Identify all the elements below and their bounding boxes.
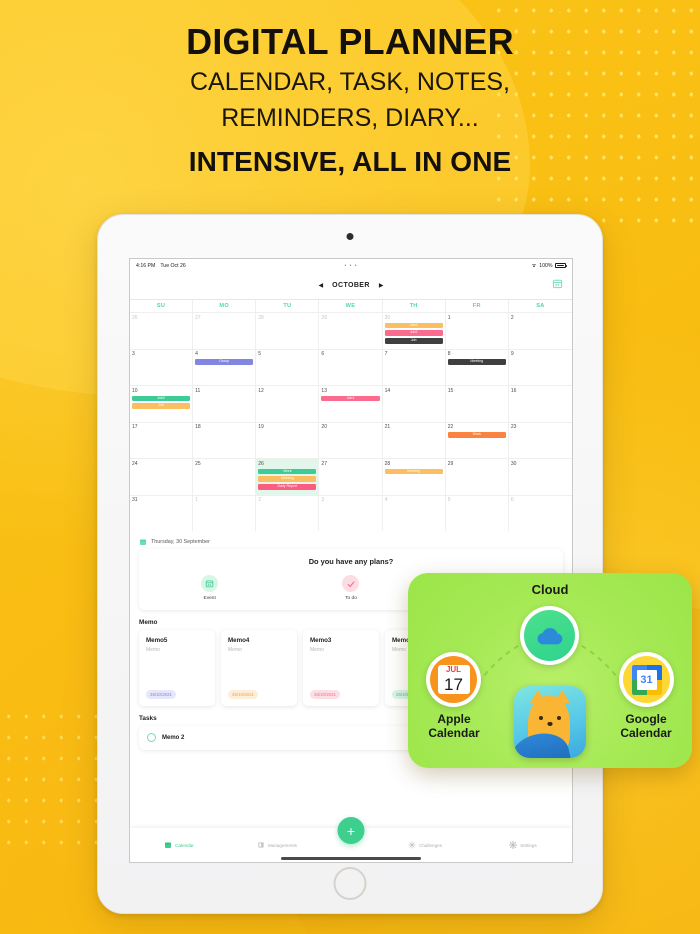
day-number: 3 — [321, 498, 379, 503]
apple-calendar-node[interactable]: JUL 17 — [426, 652, 481, 707]
plan-action-to-do[interactable]: To do — [280, 575, 421, 601]
calendar-day-cell[interactable]: 16 — [509, 385, 572, 422]
day-number: 2 — [258, 498, 316, 503]
tab-label: Challenges — [419, 843, 442, 848]
calendar-day-cell[interactable]: 14 — [383, 385, 446, 422]
day-number: 27 — [195, 316, 253, 321]
status-bar: 4:16 PM Tue Oct 26 • • • 100% — [130, 259, 572, 272]
calendar-event[interactable]: Daily Report — [258, 484, 316, 490]
day-number: 7 — [385, 352, 443, 357]
cat-eye-left — [539, 716, 543, 720]
google-calendar-node[interactable]: 31 — [619, 652, 674, 707]
day-number: 26 — [258, 462, 316, 467]
calendar-day-cell[interactable]: 29 — [446, 458, 509, 495]
weekday-sa: SA — [509, 300, 572, 312]
cat-app-icon[interactable] — [514, 686, 586, 758]
day-number: 18 — [195, 425, 253, 430]
tablet-device: 4:16 PM Tue Oct 26 • • • 100% ◀ OCTOBER … — [97, 214, 603, 914]
calendar-event[interactable]: Group — [195, 359, 253, 365]
month-label: OCTOBER — [332, 282, 370, 289]
day-number: 20 — [321, 425, 379, 430]
calendar-event[interactable]: Work — [448, 432, 506, 438]
memo-subtitle: Memo — [310, 647, 372, 653]
day-number: 15 — [448, 389, 506, 394]
day-number: 21 — [385, 425, 443, 430]
challenge-icon — [408, 841, 416, 849]
day-number: 31 — [132, 498, 190, 503]
calendar-day-cell[interactable]: 5 — [446, 495, 509, 532]
plan-action-label: To do — [345, 596, 357, 601]
calendar-day-cell[interactable]: 21 — [383, 422, 446, 459]
apple-label-line1: Apple — [412, 713, 496, 727]
calendar-day-cell[interactable]: 27 — [193, 312, 256, 349]
calendar-day-cell[interactable]: 4Group — [193, 349, 256, 386]
cat-eye-right — [557, 716, 561, 720]
day-number: 28 — [385, 462, 443, 467]
calendar: SUMOTUWETHFRSA 2627282930Job3Job2Job1234… — [130, 299, 572, 531]
calendar-day-cell[interactable]: 28Meeting — [383, 458, 446, 495]
tab-managements[interactable]: Managements — [228, 841, 326, 849]
calendar-day-cell[interactable]: 28 — [256, 312, 319, 349]
calendar-day-cell[interactable]: 3 — [319, 495, 382, 532]
google-calendar-label: Google Calendar — [604, 713, 688, 741]
calendar-day-cell[interactable]: 26WorkMeetingDaily Report — [256, 458, 319, 495]
calendar-day-cell[interactable]: 31 — [130, 495, 193, 532]
calendar-day-cell[interactable]: 1 — [446, 312, 509, 349]
apple-label-line2: Calendar — [412, 727, 496, 741]
calendar-view-icon[interactable] — [552, 278, 563, 289]
battery-icon — [555, 263, 566, 268]
bottom-tab-bar: Calendar Managements Challenges — [130, 828, 572, 862]
calendar-day-cell[interactable]: 8Meeting — [446, 349, 509, 386]
calendar-icon — [201, 575, 218, 592]
day-number: 5 — [448, 498, 506, 503]
memo-date-pill: 26/10/2021 — [228, 690, 258, 699]
memo-title: Memo5 — [146, 637, 208, 644]
calendar-day-cell[interactable]: 30 — [509, 458, 572, 495]
weekday-we: WE — [319, 300, 382, 312]
calendar-day-cell[interactable]: 29 — [319, 312, 382, 349]
calendar-grid: 2627282930Job3Job2Job1234Group5678Meetin… — [130, 312, 572, 531]
day-number: 17 — [132, 425, 190, 430]
tab-label: Managements — [268, 843, 297, 848]
check-icon — [342, 575, 359, 592]
calendar-day-cell[interactable]: 24 — [130, 458, 193, 495]
day-number: 6 — [321, 352, 379, 357]
day-number: 6 — [511, 498, 570, 503]
memo-date-pill: 26/10/2021 — [146, 690, 176, 699]
plan-action-label: Event — [204, 596, 216, 601]
day-number: 12 — [258, 389, 316, 394]
home-button[interactable] — [334, 867, 367, 900]
promo-title: DIGITAL PLANNER — [0, 22, 700, 62]
memo-card[interactable]: Memo5Memo26/10/2021 — [139, 630, 215, 706]
calendar-day-cell[interactable]: 20 — [319, 422, 382, 459]
calendar-day-cell[interactable]: 25 — [193, 458, 256, 495]
day-number: 23 — [511, 425, 570, 430]
battery-percent: 100% — [539, 263, 552, 269]
memo-card[interactable]: Memo4Memo26/10/2021 — [221, 630, 297, 706]
calendar-day-cell[interactable]: 22Work — [446, 422, 509, 459]
home-indicator — [281, 857, 421, 860]
day-number: 1 — [448, 316, 506, 321]
calendar-day-cell[interactable]: 11 — [193, 385, 256, 422]
calendar-day-cell[interactable]: 5 — [256, 349, 319, 386]
day-number: 22 — [448, 425, 506, 430]
memo-date-pill: 26/10/2021 — [310, 690, 340, 699]
calendar-day-cell[interactable]: 7 — [383, 349, 446, 386]
plan-action-event[interactable]: Event — [139, 575, 280, 601]
front-camera-icon — [347, 233, 354, 240]
memo-card[interactable]: Memo3Memo26/10/2021 — [303, 630, 379, 706]
selected-date-label: Thursday, 30 September — [151, 539, 210, 545]
cloud-node[interactable] — [520, 606, 579, 665]
calendar-day-cell[interactable]: 6 — [319, 349, 382, 386]
cloud-sync-card: Cloud JUL 17 Apple Calendar 31 Google Ca… — [408, 573, 692, 768]
calendar-event[interactable]: Meeting — [385, 469, 443, 475]
cat-nose — [548, 722, 553, 726]
day-number: 25 — [195, 462, 253, 467]
calendar-day-cell[interactable]: 6 — [509, 495, 572, 532]
promo-headline: DIGITAL PLANNER CALENDAR, TASK, NOTES, R… — [0, 22, 700, 178]
google-label-line1: Google — [604, 713, 688, 727]
calendar-icon — [164, 841, 172, 849]
google-label-line2: Calendar — [604, 727, 688, 741]
calendar-event[interactable]: Job2 — [132, 396, 190, 402]
add-button[interactable]: + — [338, 817, 365, 844]
weekday-mo: MO — [193, 300, 256, 312]
calendar-day-cell[interactable]: 27 — [319, 458, 382, 495]
apple-calendar-month: JUL — [438, 665, 470, 675]
calendar-day-cell[interactable]: 4 — [383, 495, 446, 532]
day-number: 4 — [385, 498, 443, 503]
calendar-event[interactable]: Meeting — [258, 476, 316, 482]
day-number: 11 — [195, 389, 253, 394]
task-name: Memo 2 — [162, 735, 184, 741]
status-time: 4:16 PM — [136, 263, 155, 269]
prev-month-button[interactable]: ◀ — [319, 282, 324, 289]
calendar-weekday-header: SUMOTUWETHFRSA — [130, 300, 572, 312]
google-calendar-icon: 31 — [632, 665, 662, 695]
tab-challenges[interactable]: Challenges — [376, 841, 474, 849]
wifi-icon — [531, 263, 537, 268]
calendar-day-cell[interactable]: 26 — [130, 312, 193, 349]
memo-title: Memo4 — [228, 637, 290, 644]
calendar-event[interactable]: Meeting — [448, 359, 506, 365]
device-screen: 4:16 PM Tue Oct 26 • • • 100% ◀ OCTOBER … — [129, 258, 573, 863]
day-number: 9 — [511, 352, 570, 357]
calendar-day-cell[interactable]: 3 — [130, 349, 193, 386]
cloud-icon — [535, 625, 565, 647]
calendar-event[interactable]: Job — [385, 338, 443, 344]
day-number: 28 — [258, 316, 316, 321]
calendar-day-cell[interactable]: 19 — [256, 422, 319, 459]
day-number: 26 — [132, 316, 190, 321]
status-date: Tue Oct 26 — [160, 263, 185, 269]
weekday-tu: TU — [256, 300, 319, 312]
tab-label: Settings — [520, 843, 537, 848]
calendar-day-cell[interactable]: 18 — [193, 422, 256, 459]
apple-calendar-day: 17 — [438, 675, 470, 694]
calendar-icon — [139, 538, 147, 546]
calendar-day-cell[interactable]: 10Job2Job — [130, 385, 193, 422]
calendar-event[interactable]: Job — [132, 403, 190, 409]
day-number: 16 — [511, 389, 570, 394]
day-number: 3 — [132, 352, 190, 357]
memo-title: Memo3 — [310, 637, 372, 644]
calendar-event[interactable]: Job1 — [321, 396, 379, 402]
calendar-month-header: ◀ OCTOBER ▶ — [130, 272, 572, 299]
calendar-day-cell[interactable]: 15 — [446, 385, 509, 422]
next-month-button[interactable]: ▶ — [379, 282, 384, 289]
memo-subtitle: Memo — [228, 647, 290, 653]
plans-question: Do you have any plans? — [139, 557, 563, 566]
calendar-day-cell[interactable]: 1 — [193, 495, 256, 532]
calendar-day-cell[interactable]: 30Job3Job2Job — [383, 312, 446, 349]
google-calendar-day: 31 — [637, 670, 657, 690]
day-number: 5 — [258, 352, 316, 357]
memo-subtitle: Memo — [146, 647, 208, 653]
calendar-day-cell[interactable]: 23 — [509, 422, 572, 459]
day-number: 14 — [385, 389, 443, 394]
day-number: 29 — [448, 462, 506, 467]
weekday-th: TH — [383, 300, 446, 312]
day-number: 1 — [195, 498, 253, 503]
promo-tagline: INTENSIVE, ALL IN ONE — [0, 146, 700, 178]
day-number: 4 — [195, 352, 253, 357]
calendar-day-cell[interactable]: 13Job1 — [319, 385, 382, 422]
promo-subtitle-2: REMINDERS, DIARY... — [0, 103, 700, 134]
status-center-dots: • • • — [344, 263, 357, 269]
day-number: 2 — [511, 316, 570, 321]
tab-calendar[interactable]: Calendar — [130, 841, 228, 849]
selected-date-row: Thursday, 30 September — [130, 531, 572, 549]
calendar-event[interactable]: Job2 — [385, 330, 443, 336]
day-number: 30 — [511, 462, 570, 467]
day-number: 8 — [448, 352, 506, 357]
day-number: 29 — [321, 316, 379, 321]
day-number: 10 — [132, 389, 190, 394]
calendar-day-cell[interactable]: 12 — [256, 385, 319, 422]
day-number: 27 — [321, 462, 379, 467]
calendar-day-cell[interactable]: 9 — [509, 349, 572, 386]
day-number: 24 — [132, 462, 190, 467]
gear-icon — [509, 841, 517, 849]
calendar-day-cell[interactable]: 2 — [256, 495, 319, 532]
weekday-su: SU — [130, 300, 193, 312]
tab-label: Calendar — [175, 843, 194, 848]
day-number: 19 — [258, 425, 316, 430]
day-number: 13 — [321, 389, 379, 394]
weekday-fr: FR — [446, 300, 509, 312]
apple-calendar-label: Apple Calendar — [412, 713, 496, 741]
calendar-event[interactable]: Work — [258, 469, 316, 475]
calendar-event[interactable]: Job3 — [385, 323, 443, 329]
grid-icon — [257, 841, 265, 849]
calendar-day-cell[interactable]: 17 — [130, 422, 193, 459]
day-number: 30 — [385, 316, 443, 321]
promo-subtitle-1: CALENDAR, TASK, NOTES, — [0, 67, 700, 98]
task-checkbox[interactable] — [147, 733, 156, 742]
tab-settings[interactable]: Settings — [474, 841, 572, 849]
calendar-day-cell[interactable]: 2 — [509, 312, 572, 349]
